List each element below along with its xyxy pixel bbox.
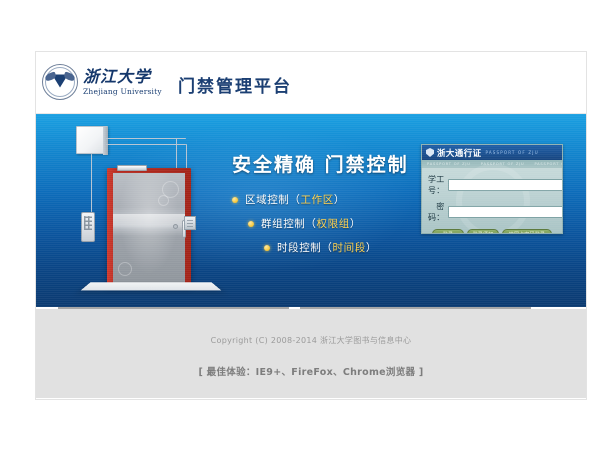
stripe-text: PASSPORT OF ZJU	[529, 162, 562, 166]
door-frame	[107, 168, 191, 286]
password-label: 密 码：	[428, 201, 448, 223]
gear-icon	[158, 195, 169, 206]
feature-text: 时段控制（	[277, 240, 333, 255]
username-row: 学工号：	[428, 174, 556, 196]
username-input[interactable]	[448, 179, 563, 191]
login-panel-subtitle: PASSPORT OF ZJU	[486, 150, 539, 155]
door-closer-icon	[117, 165, 147, 171]
feature-tail: ）	[350, 216, 361, 231]
login-button[interactable]: 登录	[432, 229, 464, 234]
cable-line	[106, 138, 186, 139]
list-item: 区域控制（工作区）	[232, 192, 377, 207]
feature-list: 区域控制（工作区） 群组控制（权限组） 时段控制（时间段）	[232, 192, 377, 264]
browser-support-note: [ 最佳体验：IE9+、FireFox、Chrome浏览器 ]	[36, 364, 586, 378]
password-row: 密 码：	[428, 201, 556, 223]
feature-text: 群组控制（	[261, 216, 317, 231]
page-title: 门禁管理平台	[178, 72, 292, 97]
stripe-text: PASSPORT OF ZJU	[422, 162, 476, 166]
login-form: 学工号： 密 码： 登录 登录须知 校园卡密码登录	[422, 168, 562, 234]
bullet-dot-icon	[232, 197, 238, 203]
site-footer: Copyright (C) 2008-2014 浙江大学图书与信息中心 [ 最佳…	[36, 307, 586, 398]
keypad-icon	[81, 212, 95, 242]
login-panel-title: 浙大通行证	[437, 147, 482, 159]
login-notice-button[interactable]: 登录须知	[467, 229, 499, 234]
door-access-control-illustration	[58, 120, 243, 300]
bullet-dot-icon	[248, 221, 254, 227]
list-item: 时段控制（时间段）	[264, 240, 377, 255]
cable-line	[91, 154, 92, 212]
logo-text: 浙江大学 Zhejiang University	[83, 69, 162, 96]
feature-highlight: 权限组	[317, 216, 350, 231]
door-slab	[113, 173, 185, 286]
feature-highlight: 时间段	[333, 240, 366, 255]
login-panel[interactable]: 浙大通行证 PASSPORT OF ZJU PASSPORT OF ZJU PA…	[421, 144, 563, 234]
shield-icon	[426, 148, 434, 157]
site-header: 浙江大学 Zhejiang University 门禁管理平台	[36, 52, 586, 114]
card-reader-icon	[184, 216, 196, 230]
controller-box-icon	[76, 126, 108, 154]
username-label: 学工号：	[428, 174, 448, 196]
feature-highlight: 工作区	[301, 192, 334, 207]
feature-tail: ）	[366, 240, 377, 255]
lock-icon	[173, 224, 178, 229]
login-panel-titlebar: 浙大通行证 PASSPORT OF ZJU	[422, 145, 562, 160]
password-input[interactable]	[448, 206, 563, 218]
page-container: 浙江大学 Zhejiang University 门禁管理平台	[36, 52, 586, 399]
feature-tail: ）	[334, 192, 345, 207]
gear-icon	[118, 262, 132, 276]
logo-name-en: Zhejiang University	[83, 88, 162, 96]
cable-line	[106, 144, 186, 145]
login-button-group: 登录 登录须知 校园卡密码登录	[428, 228, 556, 234]
campus-card-login-button[interactable]: 校园卡密码登录	[502, 229, 552, 234]
banner-headline: 安全精确 门禁控制	[232, 150, 409, 177]
zju-logo[interactable]: 浙江大学 Zhejiang University	[42, 64, 162, 100]
floor-plane	[81, 282, 221, 290]
list-item: 群组控制（权限组）	[248, 216, 377, 231]
hero-banner: 安全精确 门禁控制 区域控制（工作区） 群组控制（权限组） 时段控制（时间段） …	[36, 114, 586, 307]
bullet-dot-icon	[264, 245, 270, 251]
copyright-text: Copyright (C) 2008-2014 浙江大学图书与信息中心	[36, 335, 586, 346]
logo-name-cn: 浙江大学	[83, 69, 162, 85]
zju-seal-icon	[42, 64, 78, 100]
feature-text: 区域控制（	[245, 192, 301, 207]
